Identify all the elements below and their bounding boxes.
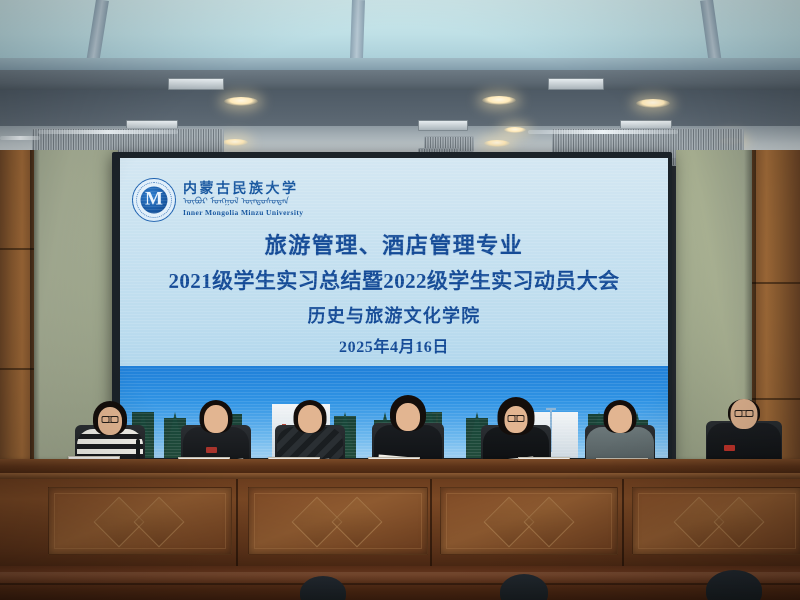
slide-line-1: 旅游管理、酒店管理专业 bbox=[120, 230, 668, 262]
diamond-motif bbox=[524, 497, 575, 548]
person-head bbox=[396, 403, 420, 431]
university-name-cn: 内蒙古民族大学 bbox=[183, 183, 303, 198]
university-logo: M 内蒙古民族大学 ᠦᠪᠦᠷ ᠮᠣᠩᠭᠣᠯ ᠦᠨᠳᠦᠰᠦᠲᠡᠨ Inner Mo… bbox=[132, 178, 303, 222]
logo-text-block: 内蒙古民族大学 ᠦᠪᠦᠷ ᠮᠣᠩᠭᠣᠯ ᠦᠨᠳᠦᠰᠦᠲᠡᠨ Inner Mong… bbox=[183, 183, 303, 218]
ceiling-downlight bbox=[636, 99, 670, 108]
person-head bbox=[608, 405, 632, 433]
eyeglasses bbox=[102, 416, 119, 423]
skylight bbox=[0, 0, 800, 62]
ceiling-light-strip bbox=[38, 130, 178, 134]
slide-line-3: 历史与旅游文化学院 bbox=[120, 302, 668, 331]
ceiling-slot bbox=[548, 78, 604, 90]
diamond-motif bbox=[714, 497, 765, 548]
university-seal-icon: M bbox=[132, 178, 176, 222]
seal-letter: M bbox=[145, 190, 163, 209]
ceiling-slot bbox=[168, 78, 224, 90]
wall-shadow bbox=[30, 150, 40, 500]
university-name-mn: ᠦᠪᠦᠷ ᠮᠣᠩᠭᠣᠯ ᠦᠨᠳᠦᠰᠦᠲᠡᠨ bbox=[183, 197, 303, 207]
person-head bbox=[298, 405, 322, 433]
wood-trim-seam bbox=[0, 368, 34, 370]
ceiling-fascia bbox=[0, 70, 800, 92]
person-badge bbox=[724, 445, 735, 451]
table-carved-panel bbox=[440, 487, 618, 555]
diamond-motif bbox=[134, 497, 185, 548]
slide-text-block: 旅游管理、酒店管理专业 2021级学生实习总结暨2022级学生实习动员大会 历史… bbox=[120, 230, 668, 361]
left-wood-trim bbox=[0, 150, 34, 500]
table-carved-panel bbox=[248, 487, 428, 555]
ceiling-downlight bbox=[224, 97, 258, 106]
table-carved-panel bbox=[48, 487, 232, 555]
wood-trim-seam bbox=[0, 248, 34, 250]
skylight-beam bbox=[350, 0, 365, 62]
ceiling-downlight bbox=[504, 127, 526, 133]
person-badge bbox=[206, 447, 217, 453]
table-panel-seam bbox=[430, 479, 432, 571]
ceiling-downlight bbox=[222, 139, 248, 146]
eyeglasses bbox=[508, 415, 525, 422]
wood-trim-seam bbox=[752, 282, 800, 284]
ceiling-downlight bbox=[484, 140, 510, 147]
table-panel-seam bbox=[622, 479, 624, 571]
conference-hall-photo: M 内蒙古民族大学 ᠦᠪᠦᠷ ᠮᠣᠩᠭᠣᠯ ᠦᠨᠳᠦᠰᠦᠲᠡᠨ Inner Mo… bbox=[0, 0, 800, 600]
table-carved-panel bbox=[632, 487, 800, 555]
diamond-motif bbox=[332, 497, 383, 548]
floor-edge-line bbox=[0, 583, 800, 585]
ceiling-downlight bbox=[482, 96, 516, 105]
university-name-en: Inner Mongolia Minzu University bbox=[183, 208, 303, 217]
ceiling-light-strip bbox=[528, 130, 678, 134]
slide-line-4: 2025年4月16日 bbox=[120, 335, 668, 361]
slide-line-2: 2021级学生实习总结暨2022级学生实习动员大会 bbox=[120, 266, 668, 298]
table-panel-seam bbox=[236, 479, 238, 571]
eyeglasses bbox=[735, 410, 754, 417]
person-head bbox=[204, 405, 228, 433]
ceiling-light-strip bbox=[0, 136, 40, 140]
presidium-table-front bbox=[0, 479, 800, 571]
ceiling-slot bbox=[418, 120, 468, 131]
